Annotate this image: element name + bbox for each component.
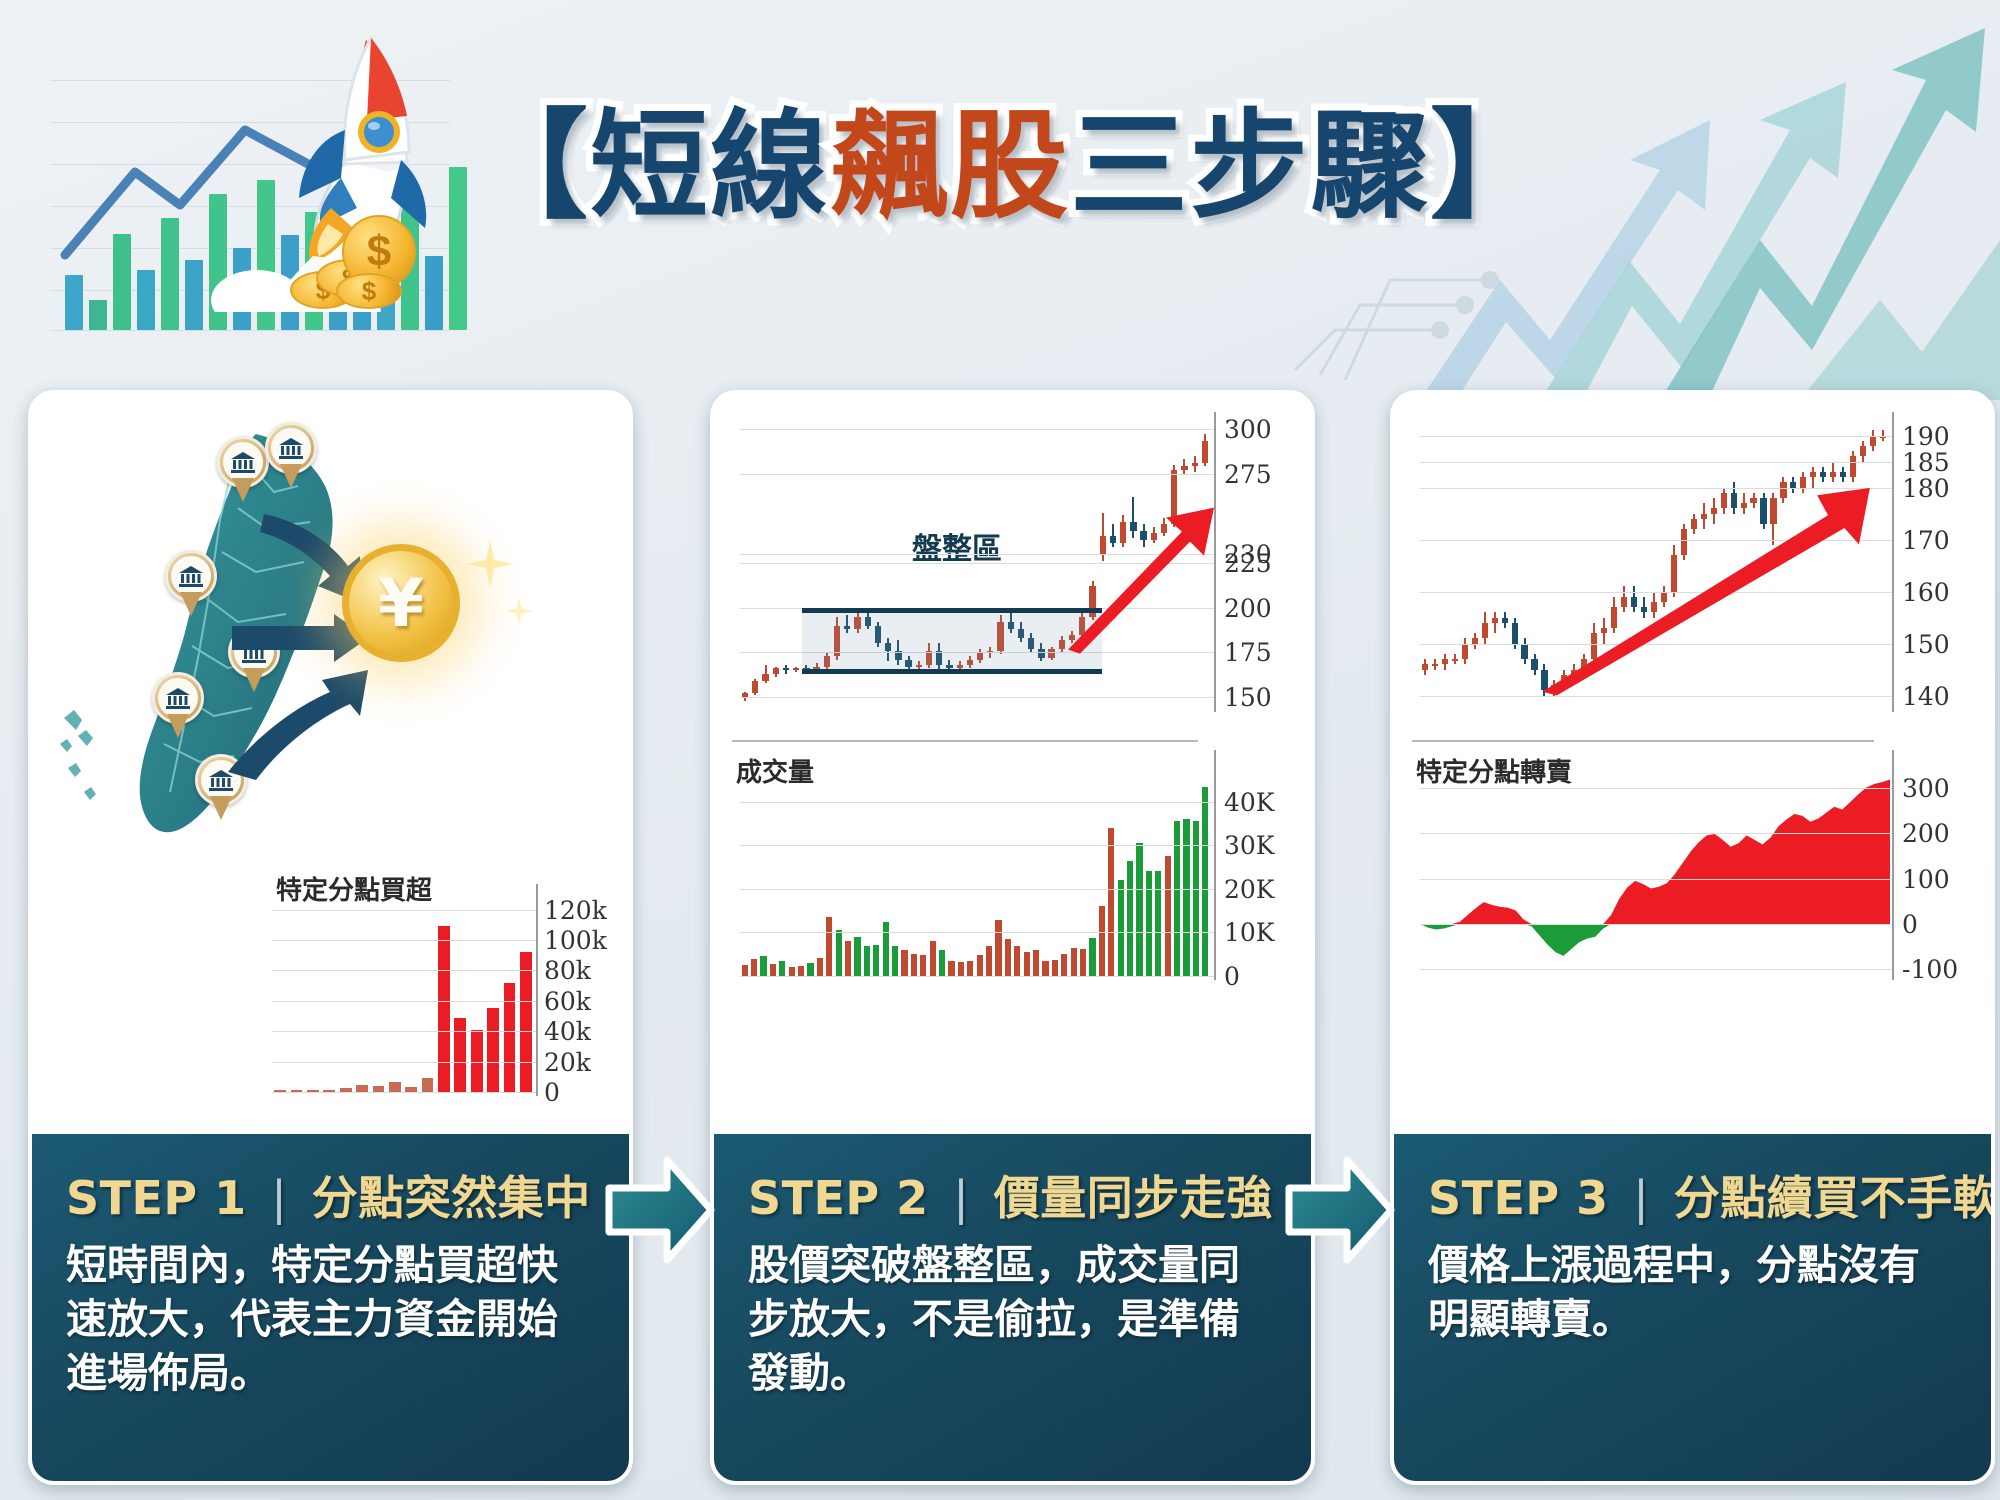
candle-body <box>1442 659 1448 664</box>
volume-bar <box>760 956 766 976</box>
volume-bar <box>967 961 973 976</box>
bar <box>422 1078 434 1092</box>
axis-tick-label: 150 <box>1902 630 1950 659</box>
volume-bar <box>836 930 842 976</box>
axis-tick-label: -100 <box>1902 955 1958 984</box>
axis-tick-label: 200 <box>1224 594 1272 623</box>
step-1-headline: 分點突然集中 <box>312 1171 591 1225</box>
candle-body <box>1192 463 1198 467</box>
step-1-figure: ¥ 特定分點買超 020k40k60k80k100k120k <box>32 394 629 1134</box>
candle-body <box>793 668 799 670</box>
volume-bar <box>1108 828 1114 976</box>
volume-bar <box>1127 861 1133 976</box>
title-part-3: 三步驟 <box>1070 70 1430 241</box>
chart-step3-price: 190185180170160150140 <box>1412 412 1982 722</box>
volume-bar <box>779 961 785 976</box>
candle-body <box>1850 456 1856 477</box>
chart-step2-price: 300275230225200175150 盤整區 <box>732 412 1302 722</box>
resell-area-series <box>1420 774 1890 974</box>
step-1-caption: STEP 1 | 分點突然集中 短時間內，特定分點買超快速放大，代表主力資金開始… <box>32 1134 629 1481</box>
bar <box>356 1085 368 1092</box>
bar <box>504 983 516 1092</box>
candle-body <box>752 681 758 694</box>
volume-bar <box>826 917 832 976</box>
volume-bar <box>770 964 776 976</box>
axis-tick-label: 80k <box>544 956 591 985</box>
gridline <box>272 1031 536 1032</box>
step-2-headline: 價量同步走強 <box>994 1171 1273 1225</box>
candle-body <box>783 668 789 670</box>
volume-bar <box>817 958 823 976</box>
volume-bar <box>854 937 860 976</box>
title-bracket-open: 【 <box>470 70 590 241</box>
sparkle-small-icon <box>502 594 536 628</box>
volume-bar <box>1089 938 1095 976</box>
yen-coin-icon: ¥ <box>342 544 460 662</box>
steps-container: ¥ 特定分點買超 020k40k60k80k100k120k STEP 1 | … <box>0 390 2000 1500</box>
gridline <box>1420 436 1892 437</box>
page-title: 【 短線 飆股 三步驟 】 <box>470 60 1530 250</box>
step-3-headline: 分點續買不手軟 <box>1674 1171 1995 1225</box>
step-2-figure: 300275230225200175150 盤整區 成交量 010K20K30K… <box>714 394 1311 1134</box>
chart-step1-buy-volume: 特定分點買超 020k40k60k80k100k120k <box>272 874 617 1114</box>
volume-bar <box>873 945 879 976</box>
candle-body <box>1452 659 1458 661</box>
axis-tick-label: 20k <box>544 1048 591 1077</box>
gridline <box>1420 788 1892 789</box>
gridline <box>740 429 1214 430</box>
gridline <box>272 1092 536 1093</box>
candle-body <box>1202 441 1208 462</box>
axis-tick-label: 170 <box>1902 526 1950 555</box>
candle-body <box>1462 644 1468 660</box>
volume-bar <box>986 946 992 976</box>
red-breakout-arrow-icon <box>1062 500 1222 657</box>
bar <box>520 952 532 1092</box>
gridline <box>1420 924 1892 925</box>
gridline <box>1420 462 1892 463</box>
volume-bar <box>1061 954 1067 976</box>
bar <box>438 926 450 1092</box>
candle-body <box>1860 446 1866 456</box>
gridline <box>740 697 1214 698</box>
volume-bar <box>1042 961 1048 976</box>
gridline <box>1420 879 1892 880</box>
consolidation-zone <box>802 608 1102 674</box>
axis-tick-label: 175 <box>1224 638 1272 667</box>
red-uptrend-arrow-icon <box>1522 477 1892 695</box>
background-gridlines <box>50 80 450 330</box>
volume-bar <box>1052 960 1058 976</box>
gridline <box>740 474 1214 475</box>
volume-bar <box>751 959 757 976</box>
axis-tick-label: 190 <box>1902 422 1950 451</box>
axis-tick-label: 10K <box>1224 918 1275 947</box>
step-1-body: 短時間內，特定分點買超快速放大，代表主力資金開始進場佈局。 <box>66 1238 595 1400</box>
volume-bar <box>845 941 851 976</box>
axis-tick-label: 140 <box>1902 682 1950 711</box>
step-3-body: 價格上漲過程中，分點沒有明顯轉賣。 <box>1428 1238 1957 1346</box>
volume-bar <box>1165 856 1171 976</box>
step-card-3[interactable]: 190185180170160150140 特定分點轉賣 3002001000-… <box>1390 390 1995 1485</box>
axis-tick-label: 100k <box>544 926 607 955</box>
gridline <box>740 845 1214 846</box>
step-card-2[interactable]: 300275230225200175150 盤整區 成交量 010K20K30K… <box>710 390 1315 1485</box>
step-3-number: STEP 3 <box>1428 1171 1609 1225</box>
candle-body <box>1482 623 1488 639</box>
candle-body <box>773 668 779 673</box>
step-3-heading: STEP 3 | 分點續買不手軟 <box>1428 1162 1957 1228</box>
axis-tick-label: 0 <box>1902 910 1918 939</box>
step-3-divider: | <box>1625 1171 1657 1225</box>
volume-bar <box>1183 819 1189 976</box>
volume-bar <box>1118 880 1124 976</box>
gridline <box>1420 833 1892 834</box>
volume-bar <box>977 955 983 976</box>
volume-bar <box>789 967 795 976</box>
gridline <box>740 889 1214 890</box>
title-part-1: 短線 <box>590 70 830 241</box>
axis-tick-label: 185 <box>1902 448 1950 477</box>
map-pin-bank-3[interactable] <box>165 550 217 616</box>
axis-tick-label: 300 <box>1902 774 1950 803</box>
volume-bar <box>930 941 936 976</box>
map-pin-bank-2[interactable] <box>265 422 317 488</box>
step-2-divider: | <box>945 1171 977 1225</box>
volume-bar <box>958 962 964 976</box>
chart-step3-resell: 特定分點轉賣 3002001000-100 <box>1412 750 1982 1000</box>
candle-body <box>1432 664 1438 666</box>
step-2-body: 股價突破盤整區，成交量同步放大，不是偷拉，是準備發動。 <box>748 1238 1277 1400</box>
rocket-icon <box>195 12 435 312</box>
gridline <box>740 802 1214 803</box>
title-bracket-close: 】 <box>1430 70 1550 241</box>
axis-tick-label: 225 <box>1224 549 1272 578</box>
chart-step2-volume: 成交量 010K20K30K40K <box>732 750 1302 1000</box>
gridline <box>272 1001 536 1002</box>
flow-arrow-1-icon <box>605 1150 715 1270</box>
bar <box>487 1008 499 1092</box>
volume-bar <box>1071 948 1077 976</box>
step-2-number: STEP 2 <box>748 1171 929 1225</box>
volume-bar <box>892 946 898 976</box>
flow-arrow-2-icon <box>1285 1150 1395 1270</box>
gridline <box>272 1062 536 1063</box>
candle-wick <box>1494 612 1496 633</box>
step-1-heading: STEP 1 | 分點突然集中 <box>66 1162 595 1228</box>
volume-bar <box>920 955 926 976</box>
bank-icon <box>165 687 191 709</box>
bank-icon <box>278 437 304 459</box>
volume-bar <box>995 920 1001 976</box>
gridline <box>1420 969 1892 970</box>
candle-body <box>1422 664 1428 669</box>
candle-body <box>1870 436 1876 446</box>
axis-tick-label: 275 <box>1224 460 1272 489</box>
volume-bar <box>807 963 813 976</box>
step-3-figure: 190185180170160150140 特定分點轉賣 3002001000-… <box>1394 394 1991 1134</box>
axis-tick-label: 40K <box>1224 788 1275 817</box>
background-bar-chart <box>55 120 475 330</box>
volume-bar <box>742 965 748 976</box>
axis-tick-label: 60k <box>544 987 591 1016</box>
volume-bar <box>1024 952 1030 976</box>
axis-tick-label: 120k <box>544 896 607 925</box>
map-pin-bank-5[interactable] <box>152 672 204 738</box>
volume-bar <box>1014 946 1020 976</box>
bar <box>389 1082 401 1092</box>
axis-tick-label: 0 <box>544 1078 560 1107</box>
volume-bar <box>864 946 870 976</box>
sparkle-icon <box>460 534 520 594</box>
bank-icon <box>178 565 204 587</box>
candle-body <box>1502 618 1508 623</box>
volume-bar <box>901 950 907 976</box>
consolidation-zone-label: 盤整區 <box>912 524 1002 568</box>
title-part-2: 飆股 <box>830 70 1070 241</box>
axis-tick-label: 300 <box>1224 415 1272 444</box>
gridline <box>272 910 536 911</box>
map-pin-bank-1[interactable] <box>217 436 269 502</box>
volume-bar <box>1080 949 1086 976</box>
candle-body <box>762 674 768 681</box>
volume-bar <box>1155 871 1161 976</box>
axis-tick-label: 0 <box>1224 962 1240 991</box>
step-2-heading: STEP 2 | 價量同步走強 <box>748 1162 1277 1228</box>
axis-tick-label: 200 <box>1902 819 1950 848</box>
axis-tick-label: 100 <box>1902 865 1950 894</box>
volume-bar <box>911 954 917 976</box>
axis-tick-label: 160 <box>1902 578 1950 607</box>
volume-bar <box>948 961 954 976</box>
volume-bar <box>1202 787 1208 976</box>
volume-bar <box>798 966 804 976</box>
gridline <box>272 940 536 941</box>
volume-bar <box>1146 871 1152 976</box>
step-2-caption: STEP 2 | 價量同步走強 股價突破盤整區，成交量同步放大，不是偷拉，是準備… <box>714 1134 1311 1481</box>
volume-bar <box>1136 843 1142 976</box>
volume-bar <box>1099 906 1105 976</box>
axis-tick-label: 40k <box>544 1017 591 1046</box>
volume-bar <box>1033 950 1039 976</box>
gridline <box>272 970 536 971</box>
candle-body <box>1492 618 1498 623</box>
axis-tick-label: 20K <box>1224 875 1275 904</box>
gridline <box>740 976 1214 977</box>
step-1-number: STEP 1 <box>66 1171 247 1225</box>
candle-body <box>1512 623 1518 644</box>
step-card-1[interactable]: ¥ 特定分點買超 020k40k60k80k100k120k STEP 1 | … <box>28 390 633 1485</box>
step-3-caption: STEP 3 | 分點續買不手軟 價格上漲過程中，分點沒有明顯轉賣。 <box>1394 1134 1991 1481</box>
gridline <box>740 932 1214 933</box>
bank-icon <box>230 451 256 473</box>
axis-tick-label: 30K <box>1224 831 1275 860</box>
gridline <box>1420 696 1892 697</box>
volume-bar <box>1005 939 1011 976</box>
step-1-divider: | <box>263 1171 295 1225</box>
upward-trend-line-icon <box>60 110 400 260</box>
axis-tick-label: 150 <box>1224 683 1272 712</box>
volume-bar <box>939 950 945 976</box>
gold-coin-stack-icon: $ $ $ $ <box>290 215 420 310</box>
axis-tick-label: 180 <box>1902 474 1950 503</box>
volume-bar <box>883 922 889 976</box>
candle-body <box>1181 466 1187 470</box>
bar <box>454 1018 466 1092</box>
